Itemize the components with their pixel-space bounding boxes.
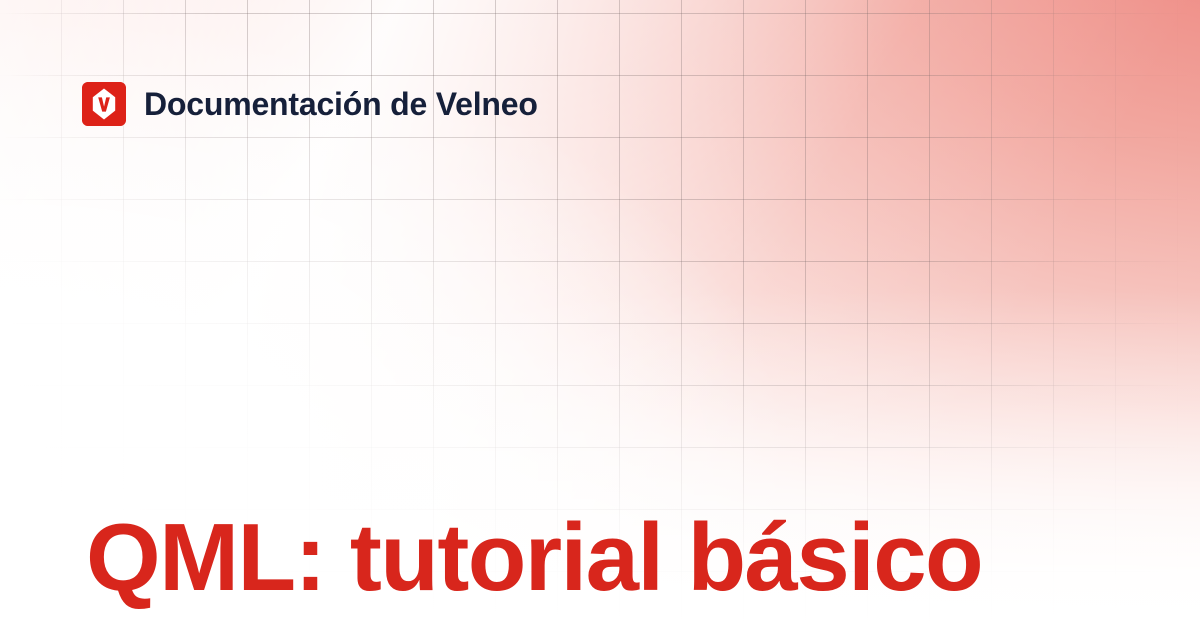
velneo-shield-logo-icon[interactable] bbox=[82, 82, 126, 126]
brand-title: Documentación de Velneo bbox=[144, 88, 538, 120]
brand-header: Documentación de Velneo bbox=[82, 82, 538, 126]
page-title: QML: tutorial básico bbox=[86, 508, 1126, 608]
og-card: Documentación de Velneo QML: tutorial bá… bbox=[0, 0, 1200, 630]
